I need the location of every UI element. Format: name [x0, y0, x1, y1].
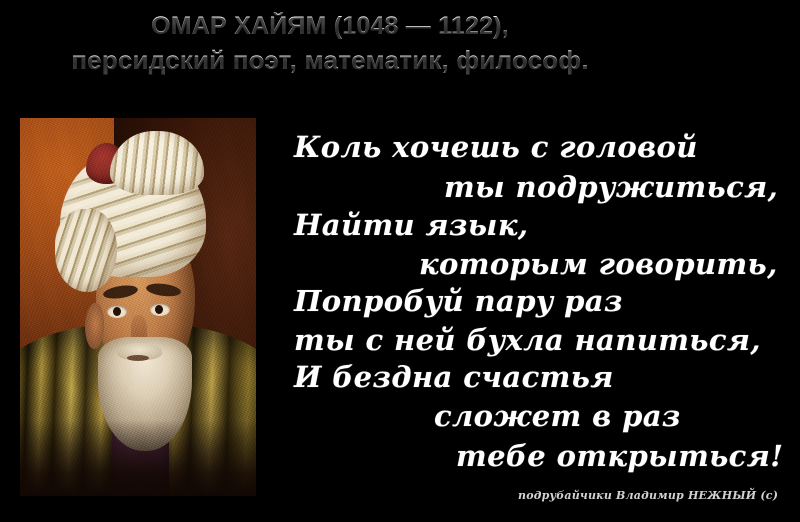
portrait-texture [20, 118, 256, 496]
poem-line: сложет в раз [434, 402, 681, 431]
poem-line: Попробуй пару раз [294, 287, 623, 316]
signature-credit: подрубайчики Владимир НЕЖНЫЙ (с) [518, 489, 778, 502]
poem-line: тебе открыться! [456, 442, 783, 471]
poem-line: ты с ней бухла напиться, [294, 326, 761, 355]
poem-line: Найти язык, [294, 211, 528, 240]
poem-line: Коль хочешь с головой [294, 133, 698, 162]
portrait-frame [20, 118, 256, 496]
page-title: ОМАР ХАЙЯМ (1048 — 1122), персидский поэ… [0, 12, 660, 75]
title-line-1: ОМАР ХАЙЯМ (1048 — 1122), [0, 12, 660, 42]
poem-line: ты подружиться, [444, 173, 778, 202]
poem-line: И бездна счастья [294, 363, 614, 392]
title-line-2: персидский поэт, математик, философ. [0, 45, 660, 76]
poem-line: которым говорить, [419, 250, 778, 279]
omar-khayyam-portrait [20, 118, 256, 496]
poster-canvas: ОМАР ХАЙЯМ (1048 — 1122), персидский поэ… [0, 0, 800, 522]
